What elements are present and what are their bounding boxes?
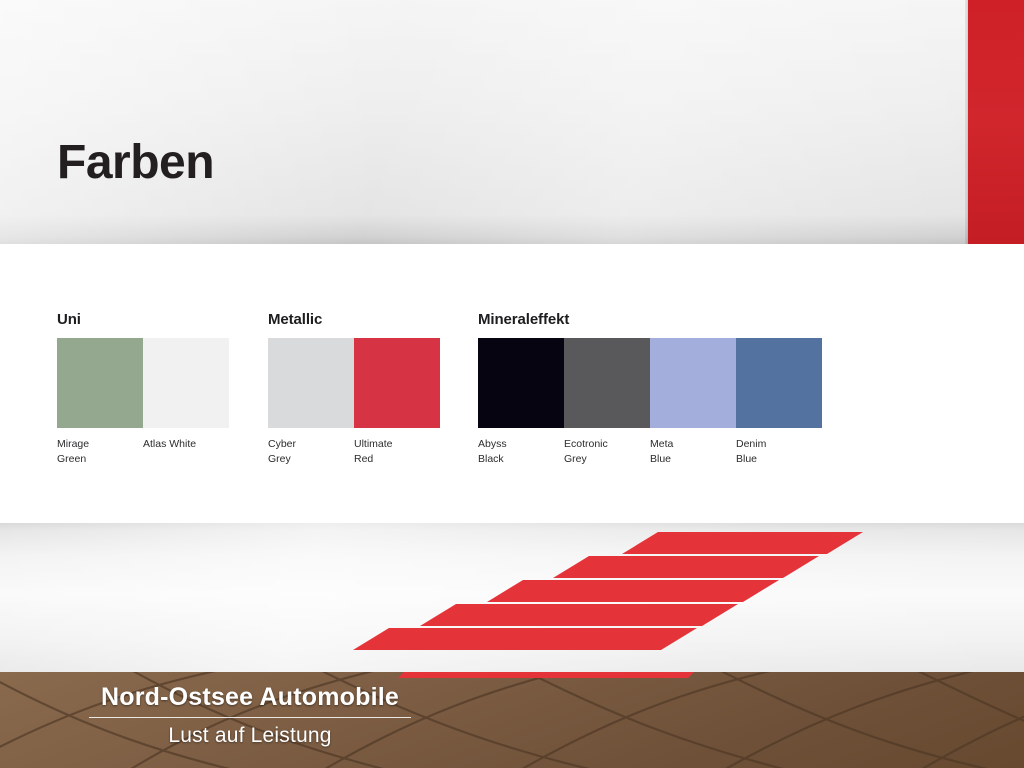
- color-swatch-item[interactable]: Ecotronic Grey: [564, 338, 650, 466]
- swatch-row: Mirage GreenAtlas White: [57, 338, 229, 466]
- color-swatch-chip[interactable]: [736, 338, 822, 428]
- diagonal-stripes-graphic: [0, 523, 1024, 672]
- color-swatch-label: Cyber Grey: [268, 437, 354, 466]
- color-swatch-item[interactable]: Meta Blue: [650, 338, 736, 466]
- color-swatch-item[interactable]: Mirage Green: [57, 338, 143, 466]
- swatch-row: Abyss BlackEcotronic GreyMeta BlueDenim …: [478, 338, 822, 466]
- color-swatch-item[interactable]: Cyber Grey: [268, 338, 354, 466]
- page-title: Farben: [57, 139, 214, 187]
- swatch-row: Cyber GreyUltimate Red: [268, 338, 440, 466]
- color-swatch-label: Denim Blue: [736, 437, 822, 466]
- color-swatch-chip[interactable]: [143, 338, 229, 428]
- dealer-branding: Nord-Ostsee Automobile Lust auf Leistung: [0, 684, 500, 747]
- dealer-divider: [89, 717, 411, 718]
- header-band: [0, 0, 1024, 244]
- color-swatch-label: Ecotronic Grey: [564, 437, 650, 466]
- diagonal-stripe: [553, 556, 819, 578]
- color-swatch-item[interactable]: Denim Blue: [736, 338, 822, 466]
- color-groups-container: UniMirage GreenAtlas WhiteMetallicCyber …: [0, 244, 1024, 523]
- color-group-title: Mineraleffekt: [478, 312, 822, 327]
- diagonal-stripe: [622, 532, 863, 554]
- color-group: UniMirage GreenAtlas White: [57, 312, 229, 466]
- lower-graphic-band: [0, 523, 1024, 672]
- color-swatch-chip[interactable]: [57, 338, 143, 428]
- red-accent-bar: [968, 0, 1024, 244]
- color-group: MineraleffektAbyss BlackEcotronic GreyMe…: [478, 312, 822, 466]
- diagonal-stripe: [420, 604, 738, 626]
- color-swatch-chip[interactable]: [478, 338, 564, 428]
- color-swatch-chip[interactable]: [564, 338, 650, 428]
- color-group-title: Uni: [57, 312, 229, 327]
- color-group-title: Metallic: [268, 312, 440, 327]
- footer-red-stripe: [0, 672, 1024, 678]
- color-swatch-label: Ultimate Red: [354, 437, 440, 466]
- color-swatch-item[interactable]: Atlas White: [143, 338, 229, 466]
- color-swatch-item[interactable]: Abyss Black: [478, 338, 564, 466]
- color-swatch-label: Atlas White: [143, 437, 229, 452]
- color-swatch-label: Meta Blue: [650, 437, 736, 466]
- footer-bar: Nord-Ostsee Automobile Lust auf Leistung: [0, 672, 1024, 768]
- diagonal-stripe: [487, 580, 779, 602]
- presentation-slide: Farben UniMirage GreenAtlas WhiteMetalli…: [0, 0, 1024, 768]
- color-swatch-chip[interactable]: [268, 338, 354, 428]
- color-group: MetallicCyber GreyUltimate Red: [268, 312, 440, 466]
- color-swatch-label: Abyss Black: [478, 437, 564, 466]
- header-sheen: [0, 0, 1024, 244]
- dealer-name: Nord-Ostsee Automobile: [0, 684, 500, 710]
- color-swatch-chip[interactable]: [354, 338, 440, 428]
- color-swatch-label: Mirage Green: [57, 437, 143, 466]
- color-swatch-item[interactable]: Ultimate Red: [354, 338, 440, 466]
- color-swatch-chip[interactable]: [650, 338, 736, 428]
- dealer-tagline: Lust auf Leistung: [0, 724, 500, 747]
- diagonal-stripe: [353, 628, 697, 650]
